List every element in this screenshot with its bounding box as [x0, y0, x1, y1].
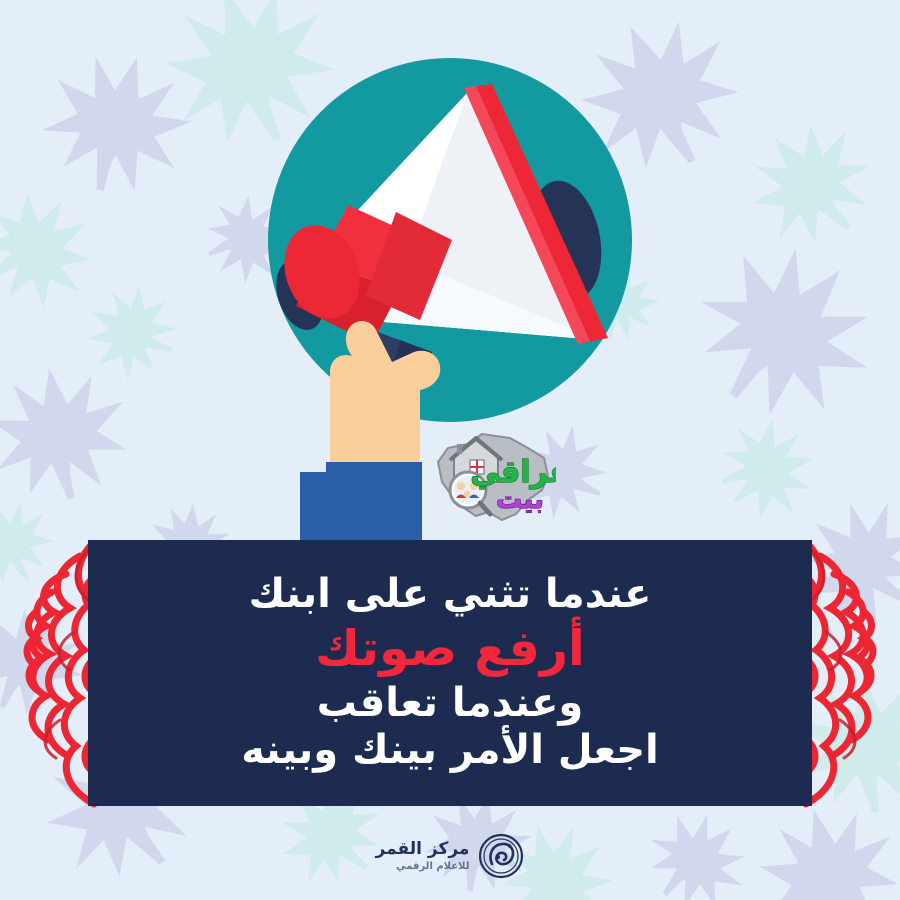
message-line-4: اجعل الأمر بينك وبينه [241, 728, 658, 774]
message-line-2-highlight: أرفع صوتك [315, 622, 585, 677]
badge-word-purple: بيت [496, 485, 544, 515]
footer-brand-subtitle: للاعلام الرقمي [396, 862, 469, 872]
footer-brand-title: مركز القمر [376, 841, 470, 858]
message-panel: عندما تثني على ابنك أرفع صوتك وعندما تعا… [88, 540, 812, 806]
message-line-1: عندما تثني على ابنك [249, 572, 652, 618]
message-line-3: وعندما تعاقب [317, 681, 583, 727]
iraqi-home-logo: عراقي بيت [424, 424, 556, 530]
poster-canvas: عراقي بيت [0, 0, 900, 900]
footer-brand-text: مركز القمر للاعلام الرقمي [376, 841, 470, 872]
qamar-monogram-icon [478, 833, 524, 879]
footer-brand: مركز القمر للاعلام الرقمي [0, 828, 900, 884]
